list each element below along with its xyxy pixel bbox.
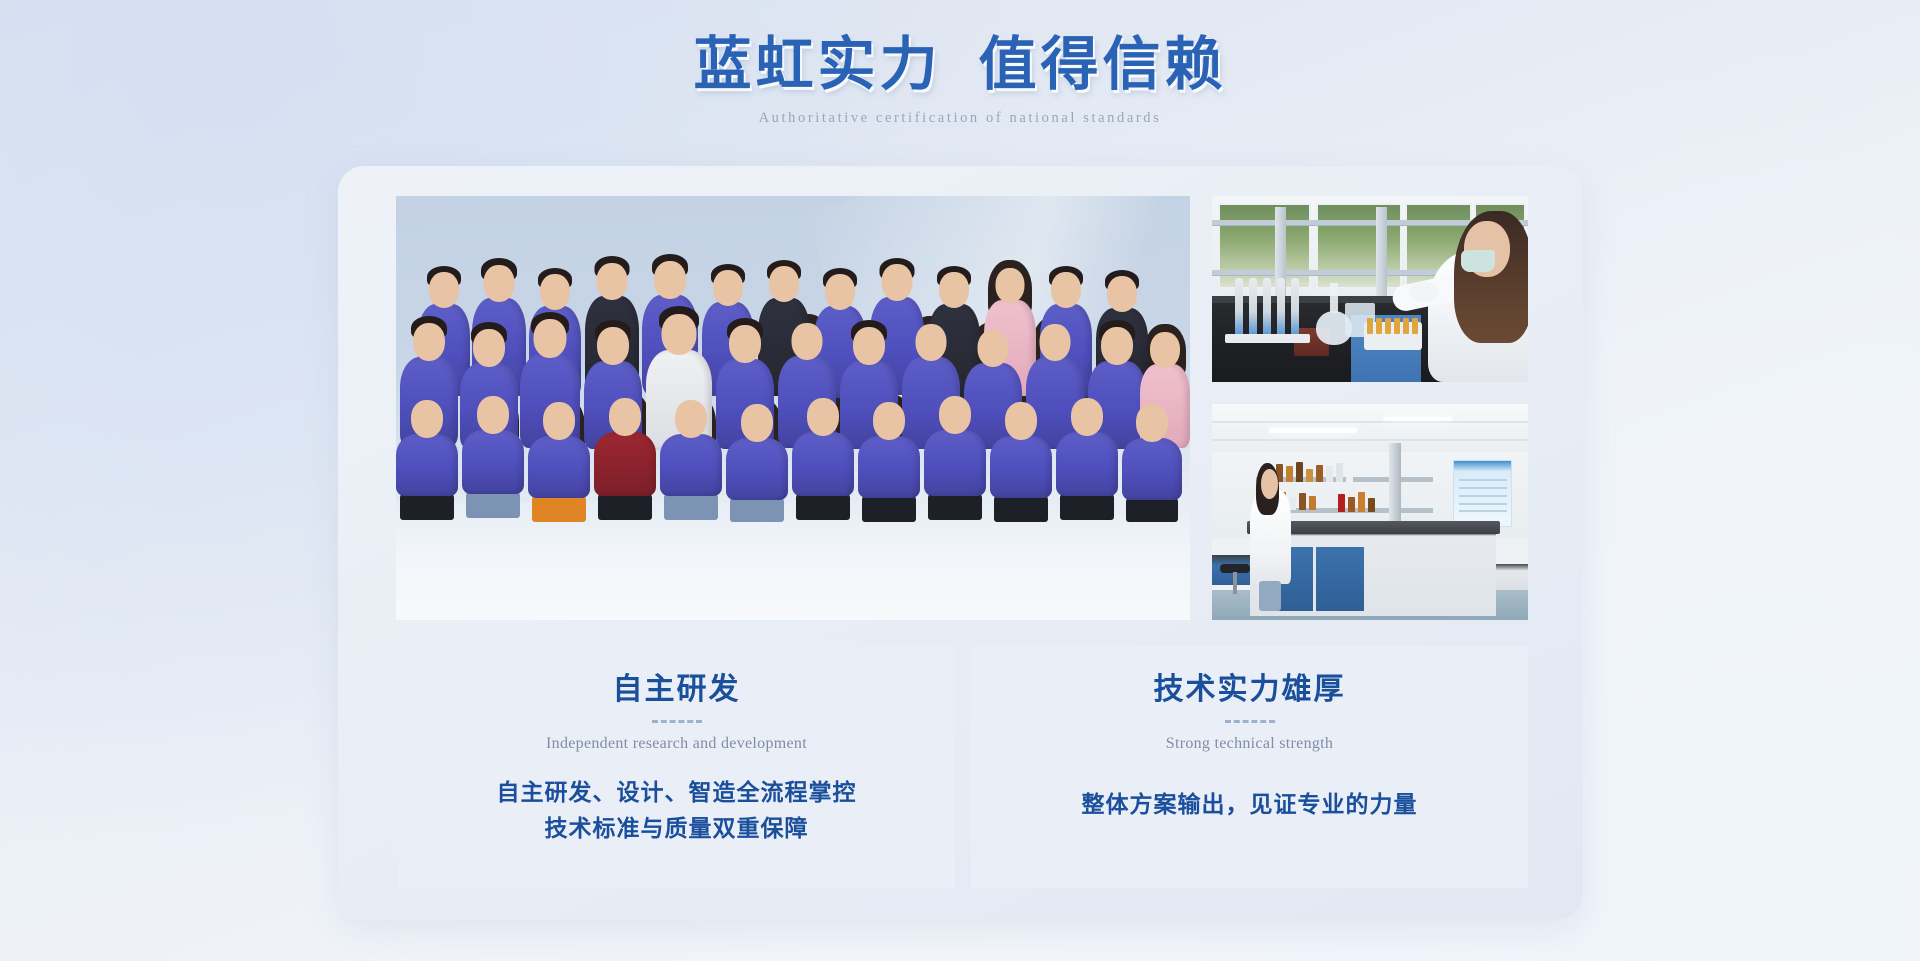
photo-gallery: [396, 196, 1528, 620]
page-root: 蓝虹实力 值得信赖 Authoritative certification of…: [0, 0, 1920, 961]
lab-ceiling: [1212, 404, 1528, 456]
pipette-rack-base: [1225, 334, 1310, 343]
reagent-bottles: [1326, 462, 1353, 482]
face-mask: [1461, 250, 1495, 272]
content-panel: 自主研发 Independent research and developmen…: [338, 166, 1583, 920]
pipette-rack: [1231, 278, 1307, 334]
feature-card-body-line: 技术标准与质量双重保障: [398, 811, 955, 847]
lab-technician: [1402, 203, 1528, 382]
page-header: 蓝虹实力 值得信赖 Authoritative certification of…: [0, 28, 1920, 127]
feature-card-english: Strong technical strength: [971, 735, 1528, 753]
glove: [1409, 282, 1439, 302]
feature-card-title: 技术实力雄厚: [971, 670, 1528, 710]
ceiling-light: [1269, 428, 1357, 433]
side-photo-column: [1212, 196, 1528, 620]
page-subtitle: Authoritative certification of national …: [0, 110, 1920, 127]
ceiling-light: [1383, 417, 1453, 421]
feature-card-body: 自主研发、设计、智造全流程掌控 技术标准与质量双重保障: [398, 775, 955, 847]
dashed-divider: [1225, 720, 1275, 723]
lab-window: [1316, 203, 1402, 289]
lab-technician-pipetting-photo: [1212, 196, 1528, 382]
feature-card-english: Independent research and development: [398, 735, 955, 753]
safety-notice-poster: [1453, 460, 1512, 527]
lab-stool: [1218, 564, 1252, 594]
feature-card-body-line: 自主研发、设计、智造全流程掌控: [398, 775, 955, 811]
feature-card-body-line: 整体方案输出，见证专业的力量: [971, 787, 1528, 823]
technician-head: [1261, 469, 1278, 499]
feature-card-body: 整体方案输出，见证专业的力量: [971, 787, 1528, 823]
dashed-divider: [652, 720, 702, 723]
page-title: 蓝虹实力 值得信赖: [0, 28, 1920, 102]
reagent-bottles: [1338, 490, 1375, 512]
lab-technician: [1250, 460, 1291, 611]
feature-card-title: 自主研发: [398, 670, 955, 710]
bench-post: [1376, 207, 1387, 304]
feature-card-independent-rd[interactable]: 自主研发 Independent research and developmen…: [398, 646, 955, 888]
bench-drawer: [1316, 547, 1363, 612]
laboratory-room-photo: [1212, 404, 1528, 620]
feature-cards: 自主研发 Independent research and developmen…: [398, 646, 1528, 888]
feature-card-technical-strength[interactable]: 技术实力雄厚 Strong technical strength 整体方案输出，…: [971, 646, 1528, 888]
company-team-group-photo: [396, 196, 1190, 620]
lab-window: [1218, 203, 1310, 289]
technician-legs: [1259, 581, 1281, 611]
